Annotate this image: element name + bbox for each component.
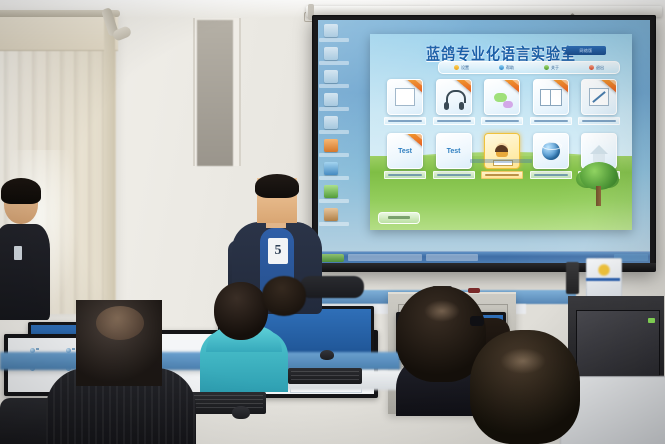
desktop-icon-label — [319, 222, 349, 226]
toolbar-label: 退出 — [596, 65, 604, 71]
student-center-head — [262, 276, 306, 316]
power-led-indicator — [648, 318, 655, 323]
desktop-icon-label — [319, 107, 349, 111]
keyboard-right[interactable] — [288, 368, 362, 384]
open-book-icon — [540, 89, 562, 106]
taskbar-item-doc[interactable] — [426, 254, 478, 261]
desktop-icon-app-shortcut[interactable] — [324, 185, 338, 198]
app-toolbar[interactable]: 设置 帮助 关于 退出 — [438, 61, 620, 74]
observer-badge — [14, 246, 22, 260]
desktop-icon-media-player[interactable] — [324, 139, 338, 152]
presenter-shirt-graphic: 5 — [268, 238, 288, 264]
desktop-icon-user[interactable] — [324, 208, 338, 221]
module-label — [530, 171, 572, 179]
tile-art — [436, 79, 472, 115]
module-tile-speaking[interactable] — [481, 79, 523, 125]
desktop-icon-label — [319, 199, 349, 203]
tile-art — [484, 79, 520, 115]
mouse-right[interactable] — [320, 350, 334, 360]
desktop-icon-network[interactable] — [324, 116, 338, 129]
module-label — [433, 171, 475, 179]
info-icon — [544, 65, 549, 70]
desktop-icon-label — [319, 38, 349, 42]
language-lab-app-window[interactable]: 蓝鸽专业化语言实验室 网络版 设置 帮助 关于 — [370, 34, 632, 230]
shirt-graphic-text: 5 — [268, 238, 288, 264]
decorative-tree — [576, 162, 620, 208]
desktop-icon-label — [319, 176, 349, 180]
taskbar-item-app[interactable] — [348, 254, 422, 261]
projected-desktop[interactable]: 蓝鸽专业化语言实验室 网络版 设置 帮助 关于 — [318, 20, 650, 263]
headphones-icon — [442, 86, 466, 108]
tile-art — [533, 79, 569, 115]
module-tile-writing[interactable] — [578, 79, 620, 125]
curtain-valance — [0, 16, 118, 51]
toolbar-label: 帮助 — [506, 65, 514, 71]
module-label-selected — [481, 171, 523, 179]
desktop-icon-label — [319, 61, 349, 65]
module-label — [433, 117, 475, 125]
cup-logo — [596, 262, 612, 278]
app-edition-text: 网络版 — [566, 46, 606, 55]
toolbar-label: 设置 — [461, 65, 469, 71]
classroom-photo-scene: MITSUBISHI — [0, 0, 665, 444]
toolbar-label: 关于 — [551, 65, 559, 71]
exit-icon — [589, 65, 594, 70]
toolbar-item-exit[interactable]: 退出 — [589, 65, 604, 71]
desktop-icon-my-documents[interactable] — [324, 47, 338, 60]
cabinet-top-object — [468, 288, 480, 293]
toolbar-item-settings[interactable]: 设置 — [454, 65, 469, 71]
app-back-button[interactable] — [378, 212, 420, 224]
desktop-icon-label — [319, 153, 349, 157]
desktop-icon-folder[interactable] — [324, 162, 338, 175]
desktop-icon-label — [319, 130, 349, 134]
seated-person-arm — [300, 276, 364, 298]
module-label — [578, 117, 620, 125]
module-label — [530, 117, 572, 125]
module-tile-reading[interactable] — [530, 79, 572, 125]
doorway-opening — [197, 20, 233, 166]
module-label — [384, 171, 426, 179]
desktop-icon-column — [318, 20, 358, 253]
start-button[interactable] — [320, 254, 344, 262]
toolbar-item-help[interactable]: 帮助 — [499, 65, 514, 71]
module-label — [384, 117, 426, 125]
presenter-hair — [255, 174, 299, 198]
cup-stripe — [586, 278, 620, 281]
module-tile-listening[interactable] — [433, 79, 475, 125]
speech-bubbles-icon — [489, 84, 515, 110]
water-bottle — [566, 262, 579, 294]
speaker-lesson-icon — [395, 88, 415, 106]
desktop-icon-label — [319, 84, 349, 88]
new-ribbon-icon — [404, 133, 423, 148]
gear-icon — [454, 65, 459, 70]
module-tile-speaker-lesson[interactable] — [384, 79, 426, 125]
tile-art — [581, 79, 617, 115]
hair-clip — [470, 316, 484, 326]
module-row-1 — [384, 79, 620, 125]
mouse-left[interactable] — [232, 406, 250, 419]
module-label — [481, 117, 523, 125]
app-edition-badge: 网络版 — [566, 46, 606, 55]
tile-art — [387, 79, 423, 115]
desktop-icon-ie-browser[interactable] — [324, 93, 338, 106]
curtain-edge — [104, 16, 115, 314]
help-icon — [499, 65, 504, 70]
desktop-icon-my-computer[interactable] — [324, 24, 338, 37]
desktop-icon-recycle-bin[interactable] — [324, 70, 338, 83]
toolbar-item-about[interactable]: 关于 — [544, 65, 559, 71]
